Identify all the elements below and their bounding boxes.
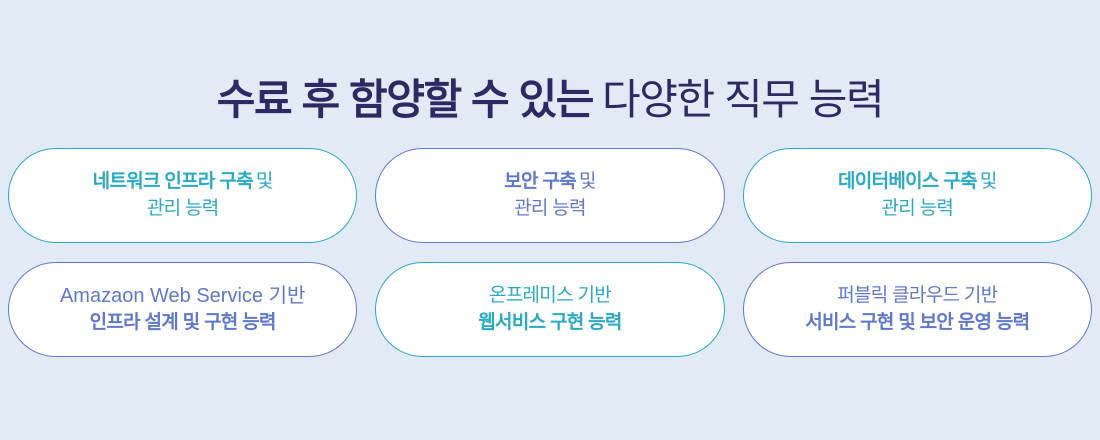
competency-card-line-primary-text: 보안 구축 [504, 171, 576, 192]
competency-card-line-secondary: 관리 능력 [881, 197, 953, 222]
competency-card-line-secondary: 관리 능력 [147, 197, 219, 222]
page-title: 수료 후 함양할 수 있는다양한 직무 능력 [0, 79, 1100, 121]
competency-card-line-primary: 데이터베이스 구축및 [838, 170, 997, 195]
competency-card-security: 보안 구축및 관리 능력 [375, 148, 724, 243]
competency-card-network-infra: 네트워크 인프라 구축및 관리 능력 [8, 148, 357, 243]
competency-card-line-primary-suffix: 및 [256, 171, 273, 192]
competency-card-row-1: 네트워크 인프라 구축및 관리 능력 보안 구축및 관리 능력 데이터베이스 구… [8, 148, 1092, 243]
competency-card-line-secondary: 관리 능력 [514, 197, 586, 222]
competency-card-line-primary-suffix: 및 [980, 171, 997, 192]
competency-card-row-2: Amazaon Web Service 기반 인프라 설계 및 구현 능력 온프… [8, 262, 1092, 357]
competency-card-line-primary: 온프레미스 기반 [489, 284, 611, 309]
competency-card-line-secondary: 인프라 설계 및 구현 능력 [90, 311, 276, 336]
competency-card-public-cloud: 퍼블릭 클라우드 기반 서비스 구현 및 보안 운영 능력 [743, 262, 1092, 357]
competency-card-grid: 네트워크 인프라 구축및 관리 능력 보안 구축및 관리 능력 데이터베이스 구… [8, 148, 1092, 357]
competency-card-line-secondary: 웹서비스 구현 능력 [478, 311, 621, 336]
competency-card-line-primary-text: 데이터베이스 구축 [838, 171, 977, 192]
competency-card-line-secondary: 서비스 구현 및 보안 운영 능력 [805, 311, 1029, 336]
page-title-light: 다양한 직무 능력 [602, 76, 883, 123]
page-title-strong: 수료 후 함양할 수 있는 [217, 76, 593, 123]
competency-card-line-primary-suffix: 및 [579, 171, 596, 192]
competency-card-on-premise: 온프레미스 기반 웹서비스 구현 능력 [375, 262, 724, 357]
competency-card-line-primary: 보안 구축및 [504, 170, 595, 195]
competency-card-aws: Amazaon Web Service 기반 인프라 설계 및 구현 능력 [8, 262, 357, 357]
competency-card-database: 데이터베이스 구축및 관리 능력 [743, 148, 1092, 243]
competency-card-line-primary: Amazaon Web Service 기반 [60, 283, 305, 309]
competency-card-line-primary: 네트워크 인프라 구축및 [93, 170, 273, 195]
competency-card-line-primary: 퍼블릭 클라우드 기반 [837, 284, 997, 309]
competency-card-line-primary-text: 네트워크 인프라 구축 [93, 171, 253, 192]
